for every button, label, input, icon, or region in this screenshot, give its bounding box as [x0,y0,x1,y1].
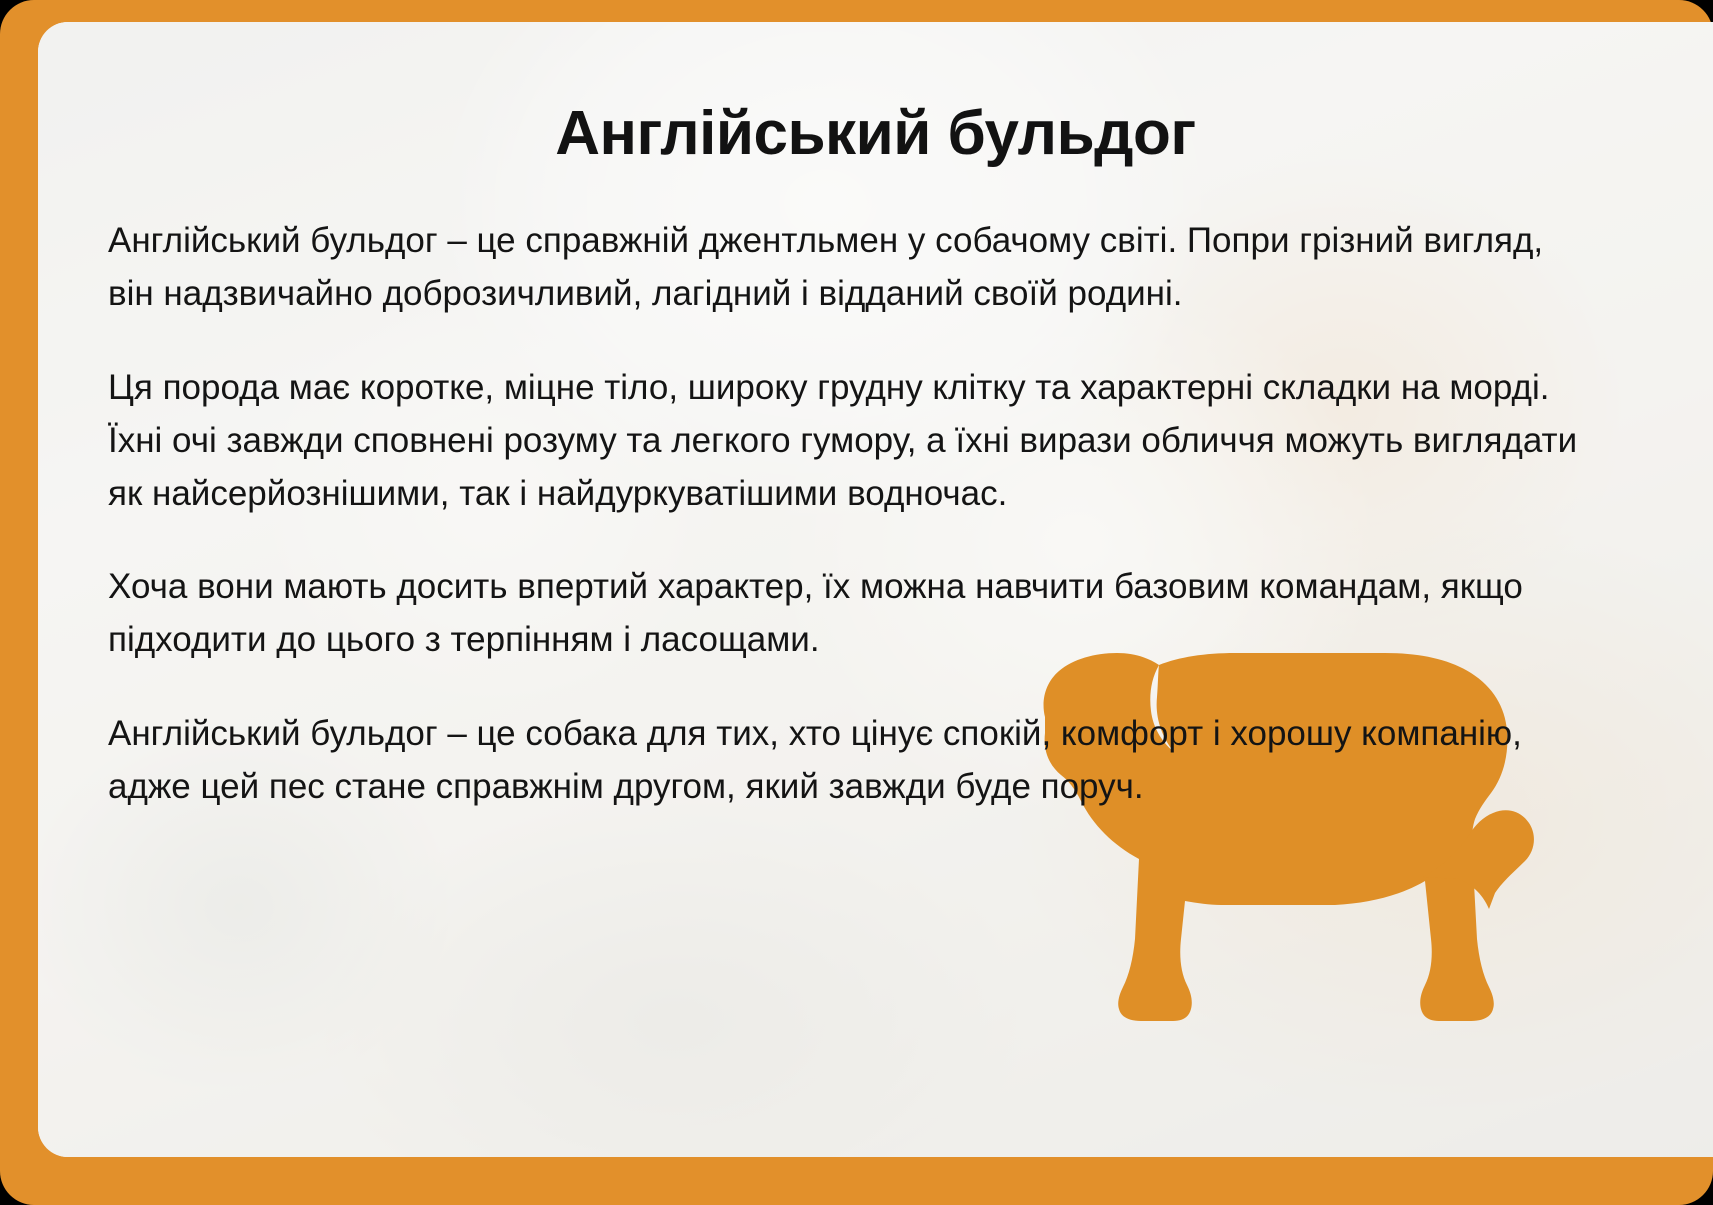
page-title: Англійський бульдог [108,100,1643,168]
article-body: Англійський бульдог – це справжній джент… [108,214,1598,813]
card-content: Англійський бульдог Англійський бульдог … [38,22,1713,1157]
paragraph-1: Англійський бульдог – це справжній джент… [108,214,1598,320]
orange-frame-border: Англійський бульдог Англійський бульдог … [0,0,1713,1205]
paragraph-2: Ця порода має коротке, міцне тіло, широк… [108,361,1598,521]
paragraph-4: Англійський бульдог – це собака для тих,… [108,707,1598,813]
info-card: Англійський бульдог Англійський бульдог … [38,22,1713,1157]
paragraph-3: Хоча вони мають досить впертий характер,… [108,560,1598,666]
